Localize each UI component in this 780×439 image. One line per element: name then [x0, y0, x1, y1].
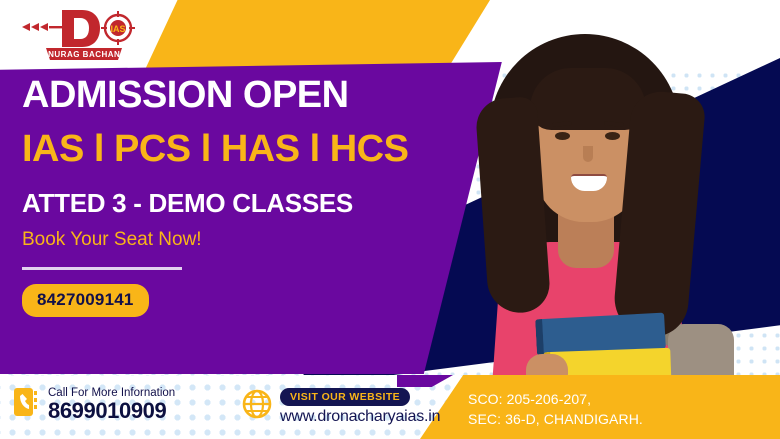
logo-ribbon: ANURAG BACHANS — [42, 48, 126, 60]
courses-list: IAS l PCS l HAS l HCS — [22, 130, 452, 168]
footer-bar: Call For More Infornation 8699010909 VIS… — [0, 375, 780, 439]
student-photo — [452, 28, 752, 403]
svg-text:IAS: IAS — [110, 24, 125, 34]
book-seat-cta: Book Your Seat Now! — [22, 230, 452, 249]
address-line-2: SEC: 36-D, CHANDIGARH. — [468, 409, 643, 429]
demo-classes-line: ATTED 3 - DEMO CLASSES — [22, 190, 452, 216]
call-info-block[interactable]: Call For More Infornation 8699010909 — [14, 387, 175, 422]
visit-website-badge[interactable]: VISIT OUR WEBSITE — [280, 388, 410, 406]
logo-letter-d — [62, 10, 100, 47]
primary-phone-badge[interactable]: 8427009141 — [22, 284, 149, 317]
nose — [583, 146, 593, 162]
admission-open-banner: IAS ANURAG BACHANS ADMISSION OPEN IAS l … — [0, 0, 780, 439]
eye-left — [555, 132, 570, 140]
phone-book-icon — [14, 387, 40, 422]
website-info-block[interactable]: VISIT OUR WEBSITE www.dronacharyaias.in — [242, 387, 440, 426]
address-block: SCO: 205-206-207, SEC: 36-D, CHANDIGARH. — [468, 389, 643, 430]
globe-icon — [242, 389, 272, 424]
divider-rule — [22, 267, 182, 270]
website-url[interactable]: www.dronacharyaias.in — [280, 408, 440, 426]
svg-text:ANURAG BACHANS: ANURAG BACHANS — [42, 50, 126, 59]
headline-admission-open: ADMISSION OPEN — [22, 76, 452, 114]
logo-ias-target: IAS — [101, 11, 135, 45]
promo-content: ADMISSION OPEN IAS l PCS l HAS l HCS ATT… — [22, 76, 452, 317]
address-line-1: SCO: 205-206-207, — [468, 389, 643, 409]
eye-right — [605, 132, 620, 140]
dronacharya-ias-logo[interactable]: IAS ANURAG BACHANS — [16, 8, 146, 62]
hair-fringe — [530, 68, 646, 130]
call-number[interactable]: 8699010909 — [48, 399, 175, 422]
